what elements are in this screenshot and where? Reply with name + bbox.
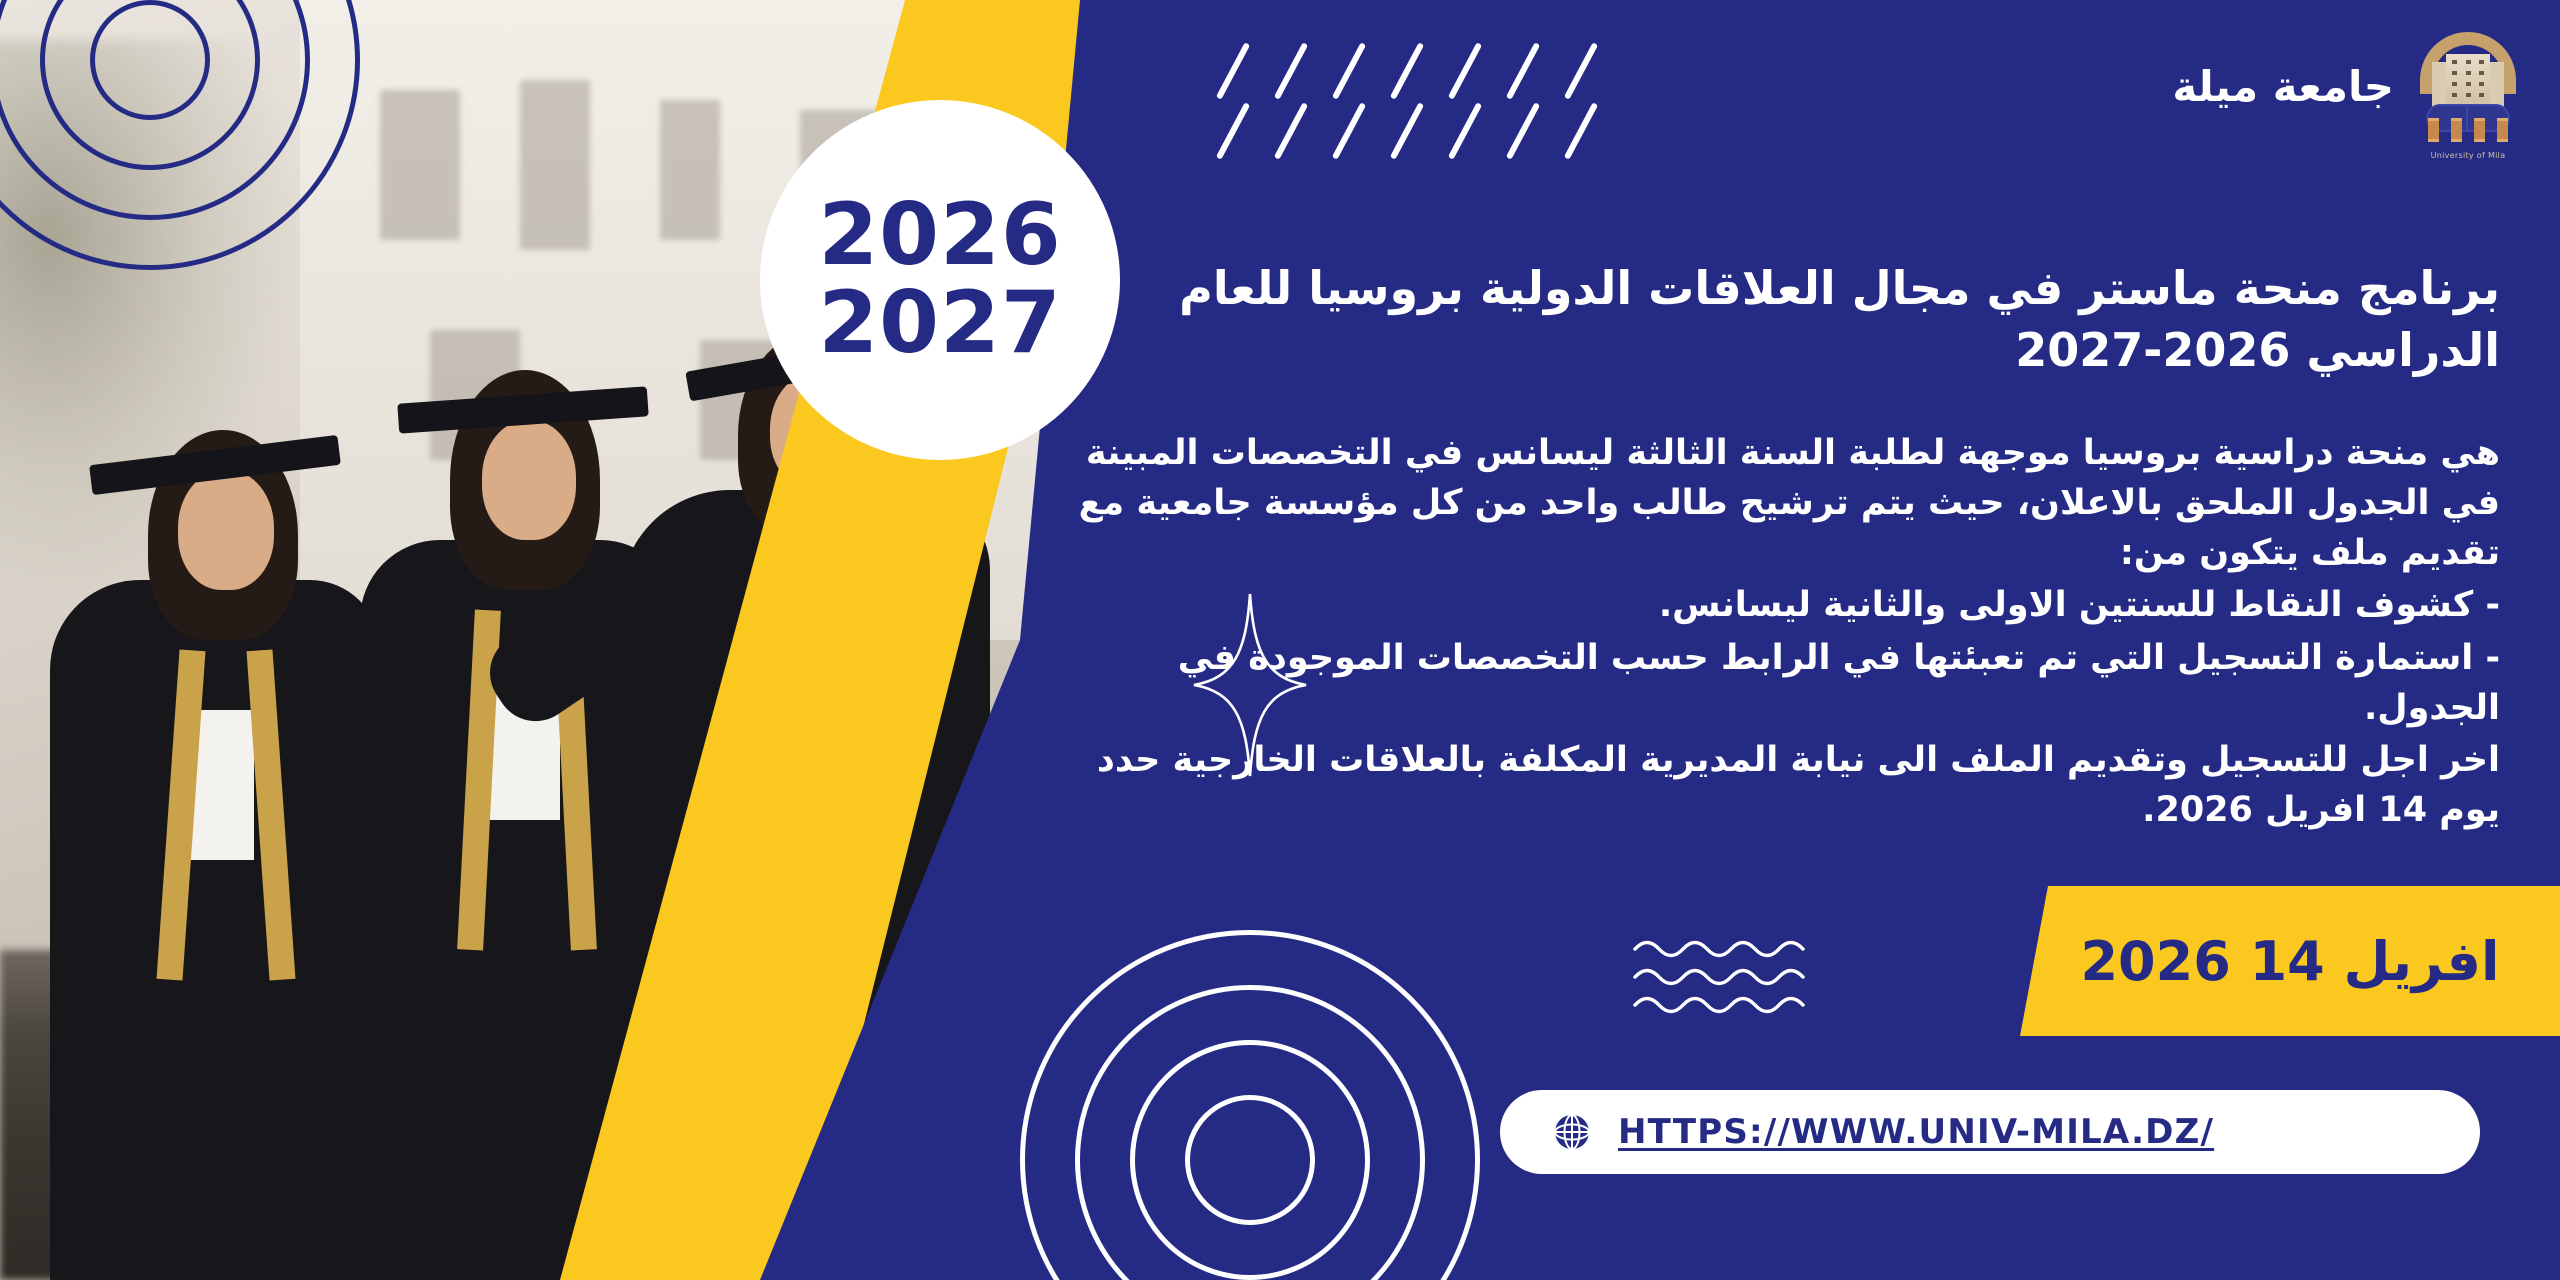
- body-paragraph-deadline: اخر اجل للتسجيل وتقديم الملف الى نيابة ا…: [1060, 736, 2500, 835]
- diagonal-stripes-icon: [1230, 40, 1650, 160]
- body-text: هي منحة دراسية بروسيا موجهة لطلبة السنة …: [1060, 429, 2500, 836]
- body-list-item-2: - استمارة التسجيل التي تم تعبئتها في الر…: [1060, 634, 2500, 733]
- concentric-circles-navy-icon: [0, 0, 360, 270]
- university-arch-book-logo-icon: University of Mila: [2416, 24, 2520, 148]
- body-paragraph-intro: هي منحة دراسية بروسيا موجهة لطلبة السنة …: [1060, 429, 2500, 578]
- content-column: برنامج منحة ماستر في مجال العلاقات الدول…: [1060, 258, 2500, 839]
- deadline-date-text: افريل 14 2026: [2080, 930, 2499, 993]
- wavy-lines-icon: [1630, 935, 1830, 1025]
- brand-header: جامعة ميلة University of Mila: [2172, 26, 2520, 146]
- deadline-date-banner: افريل 14 2026: [2020, 886, 2560, 1036]
- logo-subtitle: University of Mila: [2416, 151, 2520, 160]
- body-list-item-1: - كشوف النقاط للسنتين الاولى والثانية لي…: [1060, 581, 2500, 631]
- page-title: برنامج منحة ماستر في مجال العلاقات الدول…: [1060, 258, 2500, 381]
- year-badge-line1: 2026: [818, 192, 1061, 280]
- concentric-circles-white-icon: [1020, 930, 1480, 1280]
- poster: جامعة ميلة University of Mila 2026 2027 …: [0, 0, 2560, 1280]
- brand-name: جامعة ميلة: [2172, 62, 2394, 111]
- website-url-link[interactable]: HTTPS://WWW.UNIV-MILA.DZ/: [1618, 1112, 2214, 1152]
- website-url-pill[interactable]: HTTPS://WWW.UNIV-MILA.DZ/: [1500, 1090, 2480, 1174]
- globe-icon: [1552, 1112, 1592, 1152]
- year-badge-line2: 2027: [818, 280, 1061, 368]
